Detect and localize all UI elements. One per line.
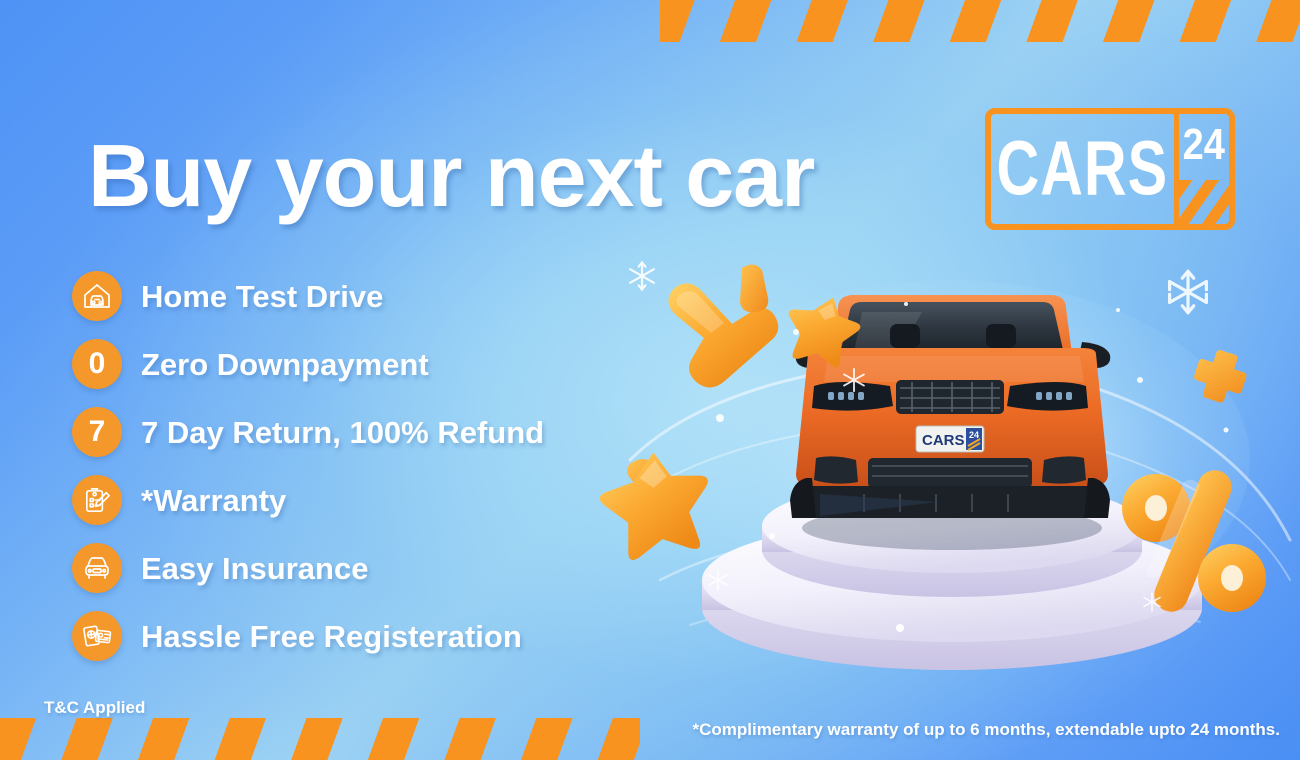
feature-item: 7 7 Day Return, 100% Refund — [72, 408, 544, 456]
car-front-icon — [72, 543, 122, 593]
feature-label: *Warranty — [141, 485, 286, 516]
logo-hatch-decoration — [1179, 180, 1229, 224]
feature-label: 7 Day Return, 100% Refund — [141, 417, 544, 448]
feature-list: Home Test Drive 0 Zero Downpayment 7 7 D… — [72, 272, 544, 660]
feature-item: Home Test Drive — [72, 272, 544, 320]
warranty-disclaimer: *Complimentary warranty of up to 6 month… — [692, 720, 1280, 740]
logo-wordmark-panel: CARS — [991, 114, 1179, 224]
license-plate: CARS 24 — [916, 426, 984, 452]
feature-item: 0 Zero Downpayment — [72, 340, 544, 388]
promo-banner: CARS 24 — [0, 0, 1300, 760]
plate-brand: CARS — [922, 432, 965, 449]
feature-label: Hassle Free Registeration — [141, 621, 522, 652]
home-garage-icon — [72, 271, 122, 321]
feature-item: Hassle Free Registeration — [72, 612, 544, 660]
badge-number: 0 — [89, 349, 106, 379]
feature-label: Easy Insurance — [141, 553, 368, 584]
logo-number: 24 — [1183, 123, 1225, 167]
logo-number-panel: 24 — [1179, 114, 1229, 224]
seven-icon: 7 — [72, 407, 122, 457]
cars24-logo: CARS 24 — [985, 108, 1235, 230]
page-title: Buy your next car — [88, 132, 814, 220]
bottom-stripe-decoration — [0, 718, 640, 760]
terms-note: T&C Applied — [44, 698, 145, 718]
badge-number: 7 — [89, 417, 106, 447]
feature-label: Home Test Drive — [141, 281, 383, 312]
documents-icon — [72, 611, 122, 661]
zero-icon: 0 — [72, 339, 122, 389]
logo-wordmark: CARS — [996, 131, 1168, 208]
top-stripe-decoration — [660, 0, 1300, 42]
hero-illustration: CARS 24 — [600, 250, 1300, 690]
clipboard-pencil-icon — [72, 475, 122, 525]
feature-item: Easy Insurance — [72, 544, 544, 592]
feature-item: *Warranty — [72, 476, 544, 524]
plate-number: 24 — [969, 430, 979, 440]
feature-label: Zero Downpayment — [141, 349, 429, 380]
